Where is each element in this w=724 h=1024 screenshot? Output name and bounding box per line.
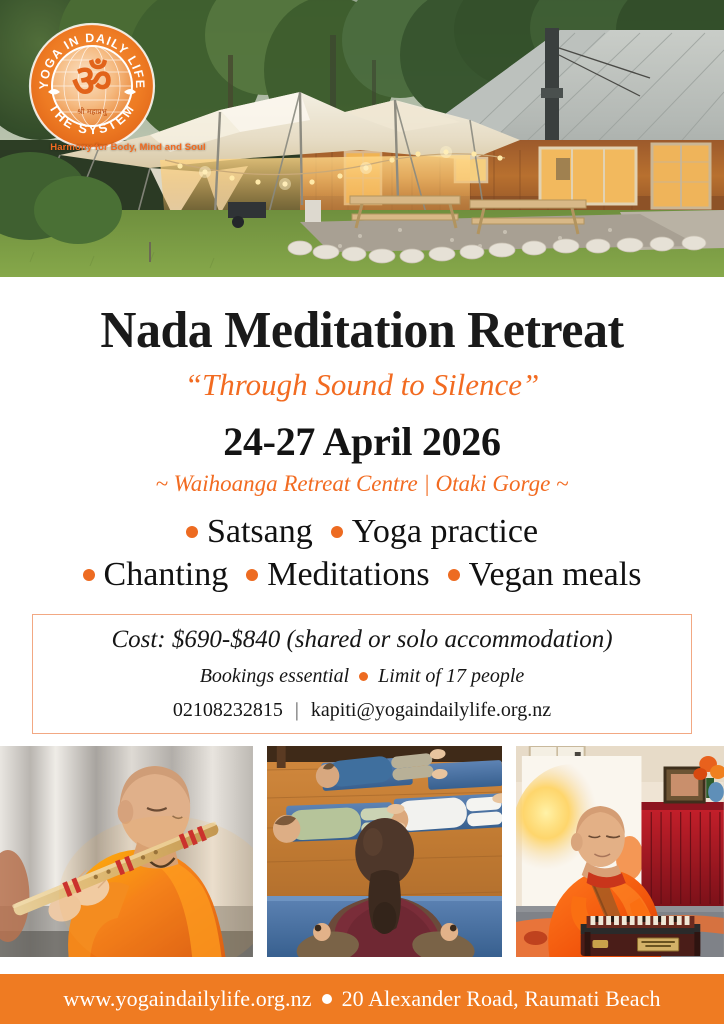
event-venue: ~ Waihoanga Retreat Centre | Otaki Gorge… bbox=[0, 472, 724, 495]
yoga-in-daily-life-logo: ॐ श्री महाप्रभु YOGA IN DAILY LIFE THE S… bbox=[28, 22, 156, 150]
feature-label: Chanting bbox=[104, 558, 229, 592]
photo-flute-image bbox=[0, 746, 253, 957]
svg-text:श्री महाप्रभु: श्री महाप्रभु bbox=[77, 107, 108, 117]
cost-line: Cost: $690-$840 (shared or solo accommod… bbox=[43, 627, 681, 652]
bullet-icon bbox=[246, 569, 258, 581]
bullet-icon bbox=[322, 994, 332, 1004]
logo-tagline: Harmony for Body, Mind and Soul bbox=[48, 142, 208, 153]
email-address[interactable]: kapiti@yogaindailylife.org.nz bbox=[311, 700, 551, 720]
limit-label: Limit of 17 people bbox=[378, 666, 524, 686]
feature-item: Yoga practice bbox=[331, 515, 538, 549]
photo-strip bbox=[0, 746, 724, 957]
svg-text:ॐ: ॐ bbox=[72, 56, 112, 107]
website-link[interactable]: www.yogaindailylife.org.nz bbox=[63, 986, 311, 1012]
bullet-icon bbox=[448, 569, 460, 581]
contact-line: 02108232815 | kapiti@yogaindailylife.org… bbox=[43, 700, 681, 720]
logo-seal-icon: ॐ श्री महाप्रभु YOGA IN DAILY LIFE THE S… bbox=[28, 22, 156, 150]
poster: ॐ श्री महाप्रभु YOGA IN DAILY LIFE THE S… bbox=[0, 0, 724, 1024]
photo-harmonium bbox=[516, 746, 724, 957]
bullet-icon bbox=[186, 526, 198, 538]
features-row-1: Satsang Yoga practice bbox=[0, 515, 724, 549]
bullet-icon bbox=[331, 526, 343, 538]
contact-separator: | bbox=[295, 700, 299, 720]
feature-label: Meditations bbox=[267, 558, 429, 592]
bookings-label: Bookings essential bbox=[200, 666, 349, 686]
feature-item: Meditations bbox=[246, 558, 429, 592]
poster-body: Nada Meditation Retreat “Through Sound t… bbox=[0, 277, 724, 734]
feature-item: Vegan meals bbox=[448, 558, 642, 592]
photo-yoga-class-image bbox=[267, 746, 502, 957]
footer-bar: www.yogaindailylife.org.nz 20 Alexander … bbox=[0, 974, 724, 1024]
photo-harmonium-image bbox=[516, 746, 724, 957]
feature-label: Yoga practice bbox=[352, 515, 538, 549]
features-list: Satsang Yoga practice Chanting Meditatio… bbox=[0, 515, 724, 592]
address-label: 20 Alexander Road, Raumati Beach bbox=[342, 986, 661, 1012]
feature-item: Satsang bbox=[186, 515, 313, 549]
cost-box: Cost: $690-$840 (shared or solo accommod… bbox=[32, 614, 692, 734]
bullet-icon bbox=[83, 569, 95, 581]
photo-flute bbox=[0, 746, 253, 957]
features-row-2: Chanting Meditations Vegan meals bbox=[0, 558, 724, 592]
feature-item: Chanting bbox=[83, 558, 229, 592]
page-title: Nada Meditation Retreat bbox=[14, 305, 709, 357]
feature-label: Satsang bbox=[207, 515, 313, 549]
bookings-line: Bookings essential Limit of 17 people bbox=[43, 666, 681, 686]
photo-yoga-class bbox=[267, 746, 502, 957]
event-date: 24-27 April 2026 bbox=[0, 422, 724, 462]
header-image: ॐ श्री महाप्रभु YOGA IN DAILY LIFE THE S… bbox=[0, 0, 724, 277]
poster-subtitle: “Through Sound to Silence” bbox=[0, 369, 724, 400]
feature-label: Vegan meals bbox=[469, 558, 642, 592]
bullet-icon bbox=[359, 672, 368, 681]
footer-content: www.yogaindailylife.org.nz 20 Alexander … bbox=[63, 986, 660, 1012]
phone-number[interactable]: 02108232815 bbox=[173, 700, 283, 720]
